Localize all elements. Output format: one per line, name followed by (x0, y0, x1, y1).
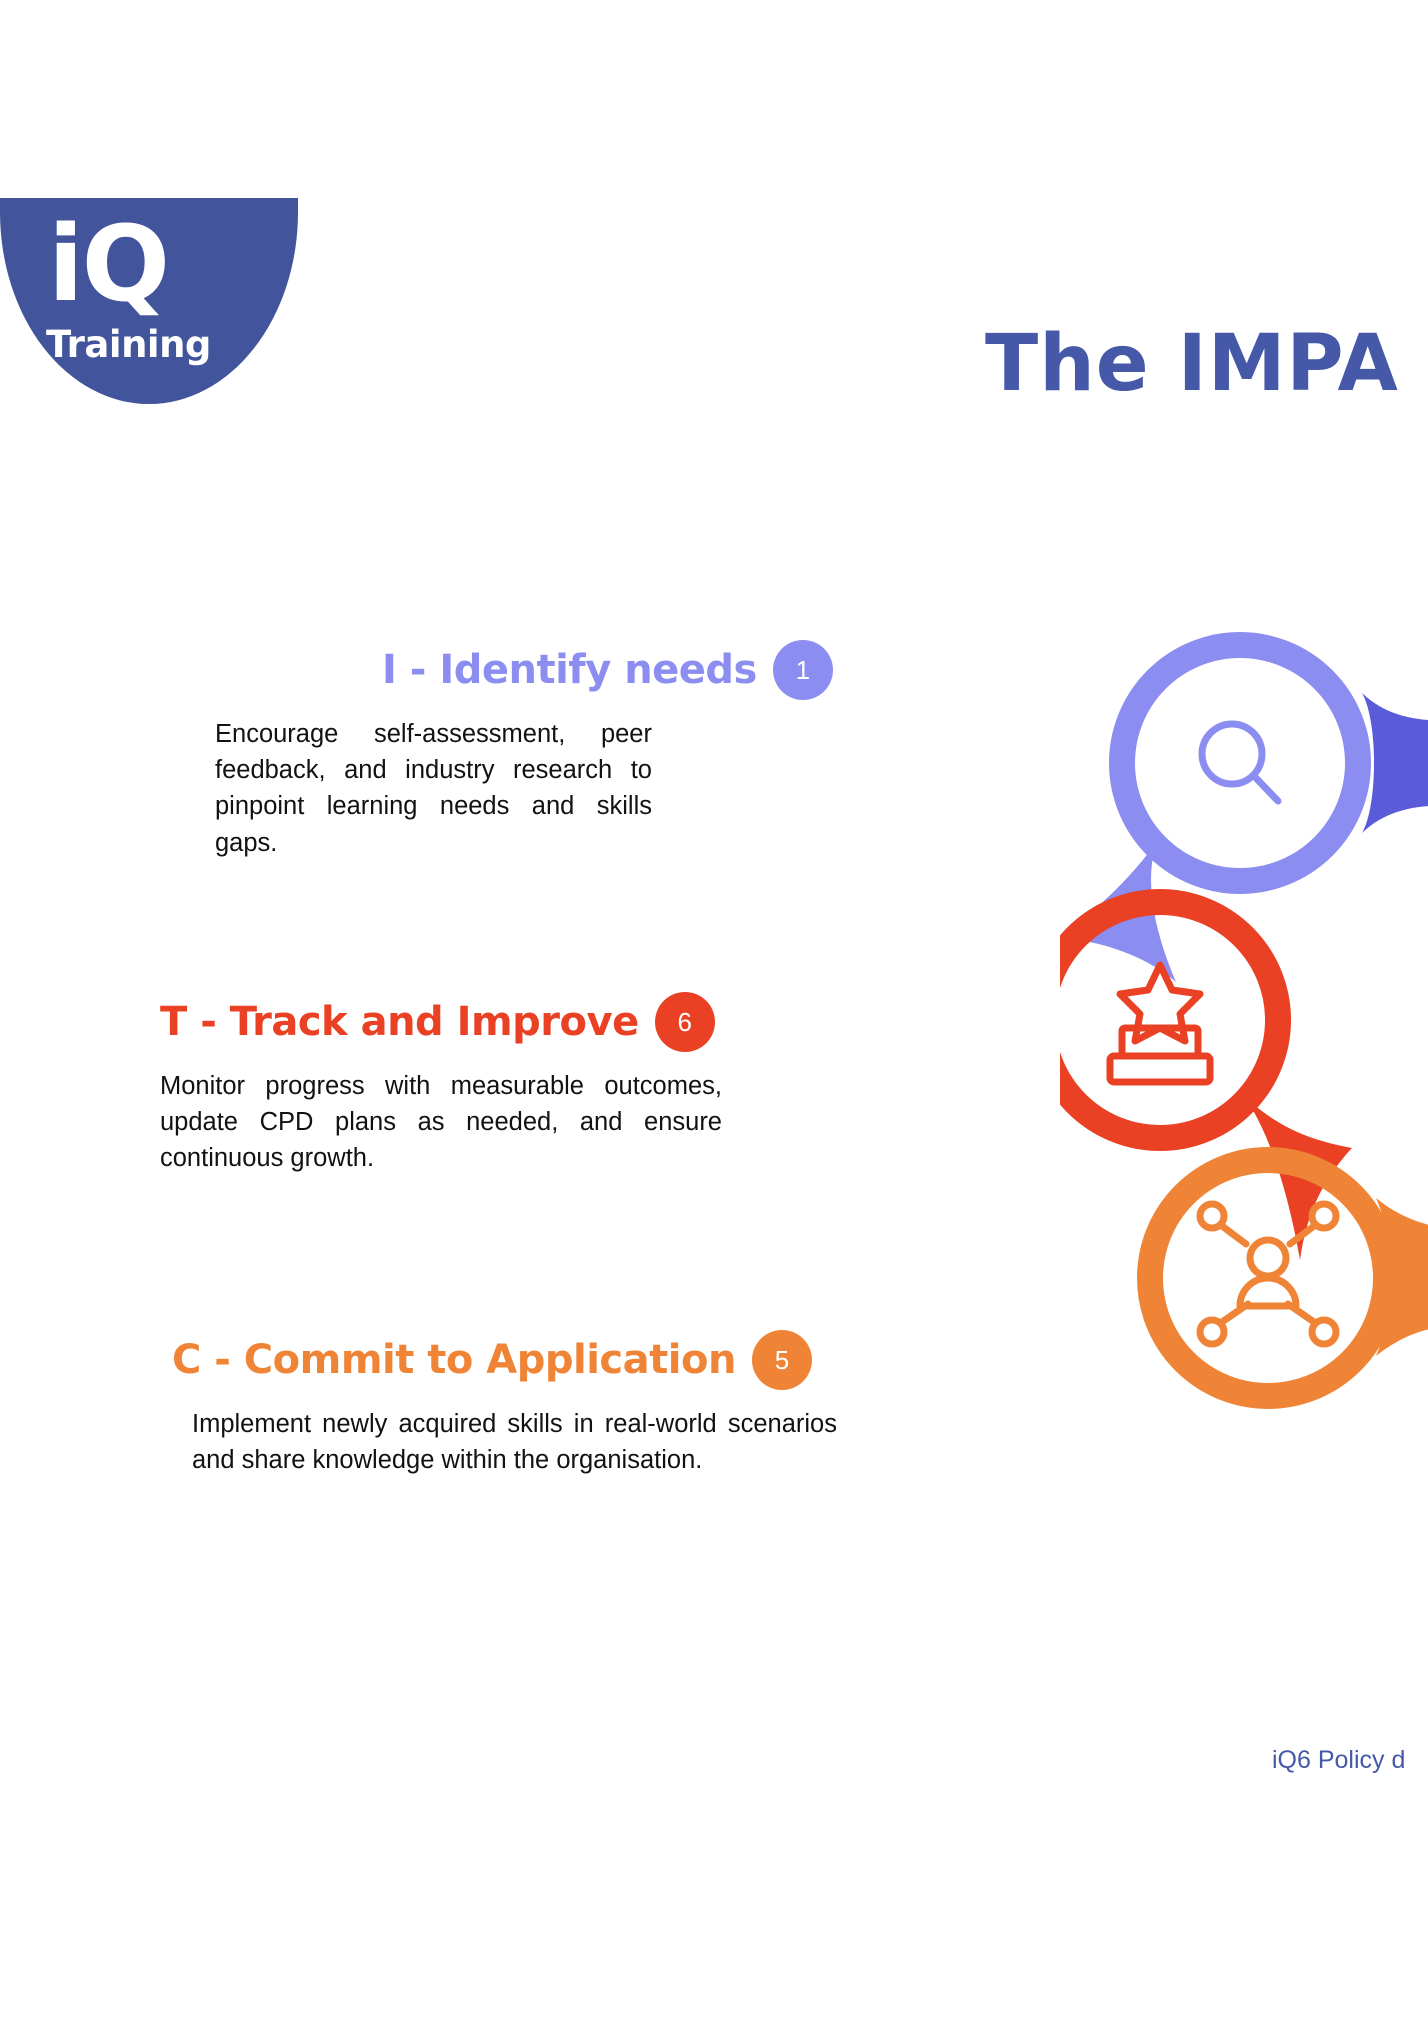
search-icon (1202, 724, 1278, 801)
bubble-ring-track (1060, 902, 1278, 1138)
step-block-track: T - Track and Improve 6 Monitor progress… (160, 992, 670, 1177)
step-heading-row: I - Identify needs 1 (382, 640, 669, 700)
impact-bubble-graphic (1060, 620, 1428, 1540)
step-badge-identify: 1 (773, 640, 833, 700)
trophy-icon (1110, 965, 1210, 1082)
step-body-identify: Encourage self-assessment, peer feedback… (215, 716, 652, 861)
network-person-icon (1200, 1204, 1336, 1344)
step-badge-track: 6 (655, 992, 715, 1052)
connector-wedge-blue (1362, 693, 1428, 833)
step-heading-commit: C - Commit to Application (172, 1338, 736, 1382)
logo-secondary-text: Training (46, 326, 211, 363)
logo: iQ Training (0, 198, 298, 404)
step-badge-commit: 5 (752, 1330, 812, 1390)
footer-note: iQ6 Policy d (1272, 1748, 1405, 1773)
step-heading-identify: I - Identify needs (382, 648, 757, 692)
step-heading-row: C - Commit to Application 5 (172, 1330, 668, 1390)
step-heading-row: T - Track and Improve 6 (160, 992, 670, 1052)
step-block-commit: C - Commit to Application 5 Implement ne… (172, 1330, 668, 1478)
page-title: The IMPA (985, 325, 1399, 403)
step-block-identify: I - Identify needs 1 Encourage self-asse… (277, 640, 669, 861)
bubble-ring-identify (1122, 645, 1358, 881)
step-body-track: Monitor progress with measurable outcome… (160, 1068, 722, 1177)
step-body-commit: Implement newly acquired skills in real-… (192, 1406, 837, 1478)
step-heading-track: T - Track and Improve (160, 1000, 639, 1044)
logo-primary-text: iQ (48, 212, 168, 316)
